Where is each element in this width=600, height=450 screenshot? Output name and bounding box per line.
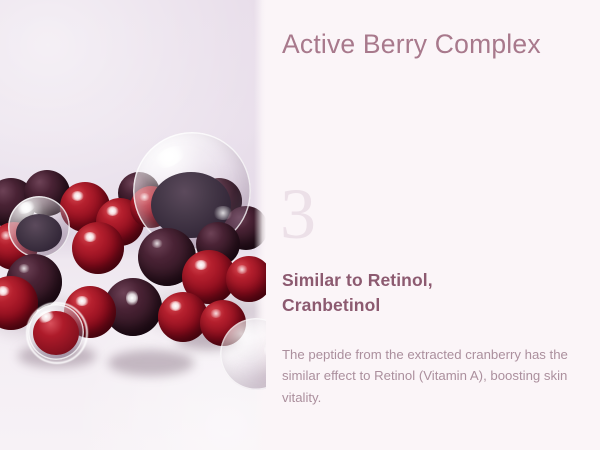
highlight xyxy=(236,265,248,274)
berry-red-4 xyxy=(72,222,124,274)
highlight xyxy=(194,260,208,270)
highlight xyxy=(264,342,266,358)
text-panel: Active Berry Complex 3 Similar to Retino… xyxy=(266,0,600,450)
berry-red-7 xyxy=(226,256,266,302)
page-title: Active Berry Complex xyxy=(282,29,541,60)
highlight xyxy=(106,206,119,216)
highlight xyxy=(126,290,138,306)
highlight xyxy=(151,239,163,248)
glass-sphere-small-left-core xyxy=(16,214,62,252)
benefit-description: The peptide from the extracted cranberry… xyxy=(282,344,574,408)
glass-sphere-small-left xyxy=(8,196,70,258)
highlight xyxy=(0,286,10,296)
product-photo xyxy=(0,0,266,450)
product-banner: Active Berry Complex 3 Similar to Retino… xyxy=(0,0,600,450)
highlight xyxy=(169,301,182,311)
highlight xyxy=(210,309,222,318)
highlight xyxy=(71,191,84,201)
highlight xyxy=(18,264,30,273)
highlight xyxy=(151,141,189,173)
shadow-berry-cluster-right xyxy=(108,350,194,376)
highlight-secondary xyxy=(213,206,233,220)
highlight xyxy=(83,232,97,242)
step-number: 3 xyxy=(280,178,316,250)
highlight xyxy=(75,296,89,306)
glass-sphere-red-rim xyxy=(26,302,88,364)
benefit-subheading: Similar to Retinol, Cranbetinol xyxy=(282,268,532,318)
